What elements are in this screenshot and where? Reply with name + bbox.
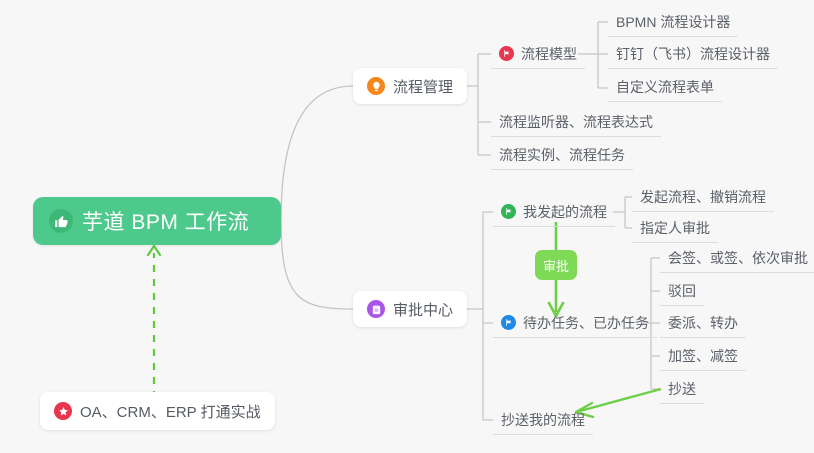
node-start-cancel-process[interactable]: 发起流程、撤销流程 [632,182,774,212]
thumbs-up-icon [49,209,73,233]
node-process-listener[interactable]: 流程监听器、流程表达式 [491,107,661,137]
node-reject[interactable]: 驳回 [660,276,704,306]
flag-icon [501,315,516,330]
node-label: 委派、转办 [668,313,738,333]
node-delegate-transfer[interactable]: 委派、转办 [660,308,746,338]
node-cc-to-me[interactable]: 抄送我的流程 [493,405,593,435]
node-label: 我发起的流程 [523,202,607,222]
node-label: 钉钉（飞书）流程设计器 [616,44,770,64]
node-custom-form[interactable]: 自定义流程表单 [608,72,722,102]
branch-label: 流程管理 [393,76,453,97]
node-process-instance[interactable]: 流程实例、流程任务 [491,140,633,170]
node-label: 自定义流程表单 [616,77,714,97]
flag-icon [501,204,516,219]
floating-node-integration[interactable]: OA、CRM、ERP 打通实战 [40,392,275,430]
tag-label: 审批 [543,256,569,275]
star-icon [54,402,72,420]
node-designated-approver[interactable]: 指定人审批 [632,213,718,243]
dashed-arrow-to-root [148,246,160,398]
node-label: 流程实例、流程任务 [499,145,625,165]
node-label: 驳回 [668,281,696,301]
floating-node-label: OA、CRM、ERP 打通实战 [80,401,261,422]
node-process-model[interactable]: 流程模型 [491,39,585,69]
node-label: 流程监听器、流程表达式 [499,112,653,132]
branch-node-process-management[interactable]: 流程管理 [353,68,467,104]
node-todo-done-tasks[interactable]: 待办任务、已办任务 [493,308,657,338]
lightbulb-icon [367,77,385,95]
node-label: 流程模型 [521,44,577,64]
node-label: 待办任务、已办任务 [523,313,649,333]
root-label: 芋道 BPM 工作流 [82,206,249,236]
node-label: 发起流程、撤销流程 [640,187,766,207]
node-label: 抄送 [668,379,696,399]
node-add-remove-sign[interactable]: 加签、减签 [660,341,746,371]
node-countersign[interactable]: 会签、或签、依次审批 [660,243,814,273]
node-my-initiated-processes[interactable]: 我发起的流程 [493,197,615,227]
branch-node-approval-center[interactable]: 审批中心 [353,291,467,327]
flag-icon [499,46,514,61]
node-label: 会签、或签、依次审批 [668,248,808,268]
clipboard-icon [367,300,385,318]
node-label: 加签、减签 [668,346,738,366]
root-node[interactable]: 芋道 BPM 工作流 [33,197,281,245]
node-label: 抄送我的流程 [501,410,585,430]
node-cc[interactable]: 抄送 [660,374,704,404]
branch-label: 审批中心 [393,299,453,320]
approval-flow-tag: 审批 [535,250,577,280]
node-label: BPMN 流程设计器 [616,12,730,32]
node-bpmn-designer[interactable]: BPMN 流程设计器 [608,7,738,37]
node-label: 指定人审批 [640,218,710,238]
node-dingtalk-designer[interactable]: 钉钉（飞书）流程设计器 [608,39,778,69]
mindmap-canvas: 芋道 BPM 工作流 流程管理 流程模型 BPMN 流程设计器 钉钉（飞书）流程… [0,0,814,453]
